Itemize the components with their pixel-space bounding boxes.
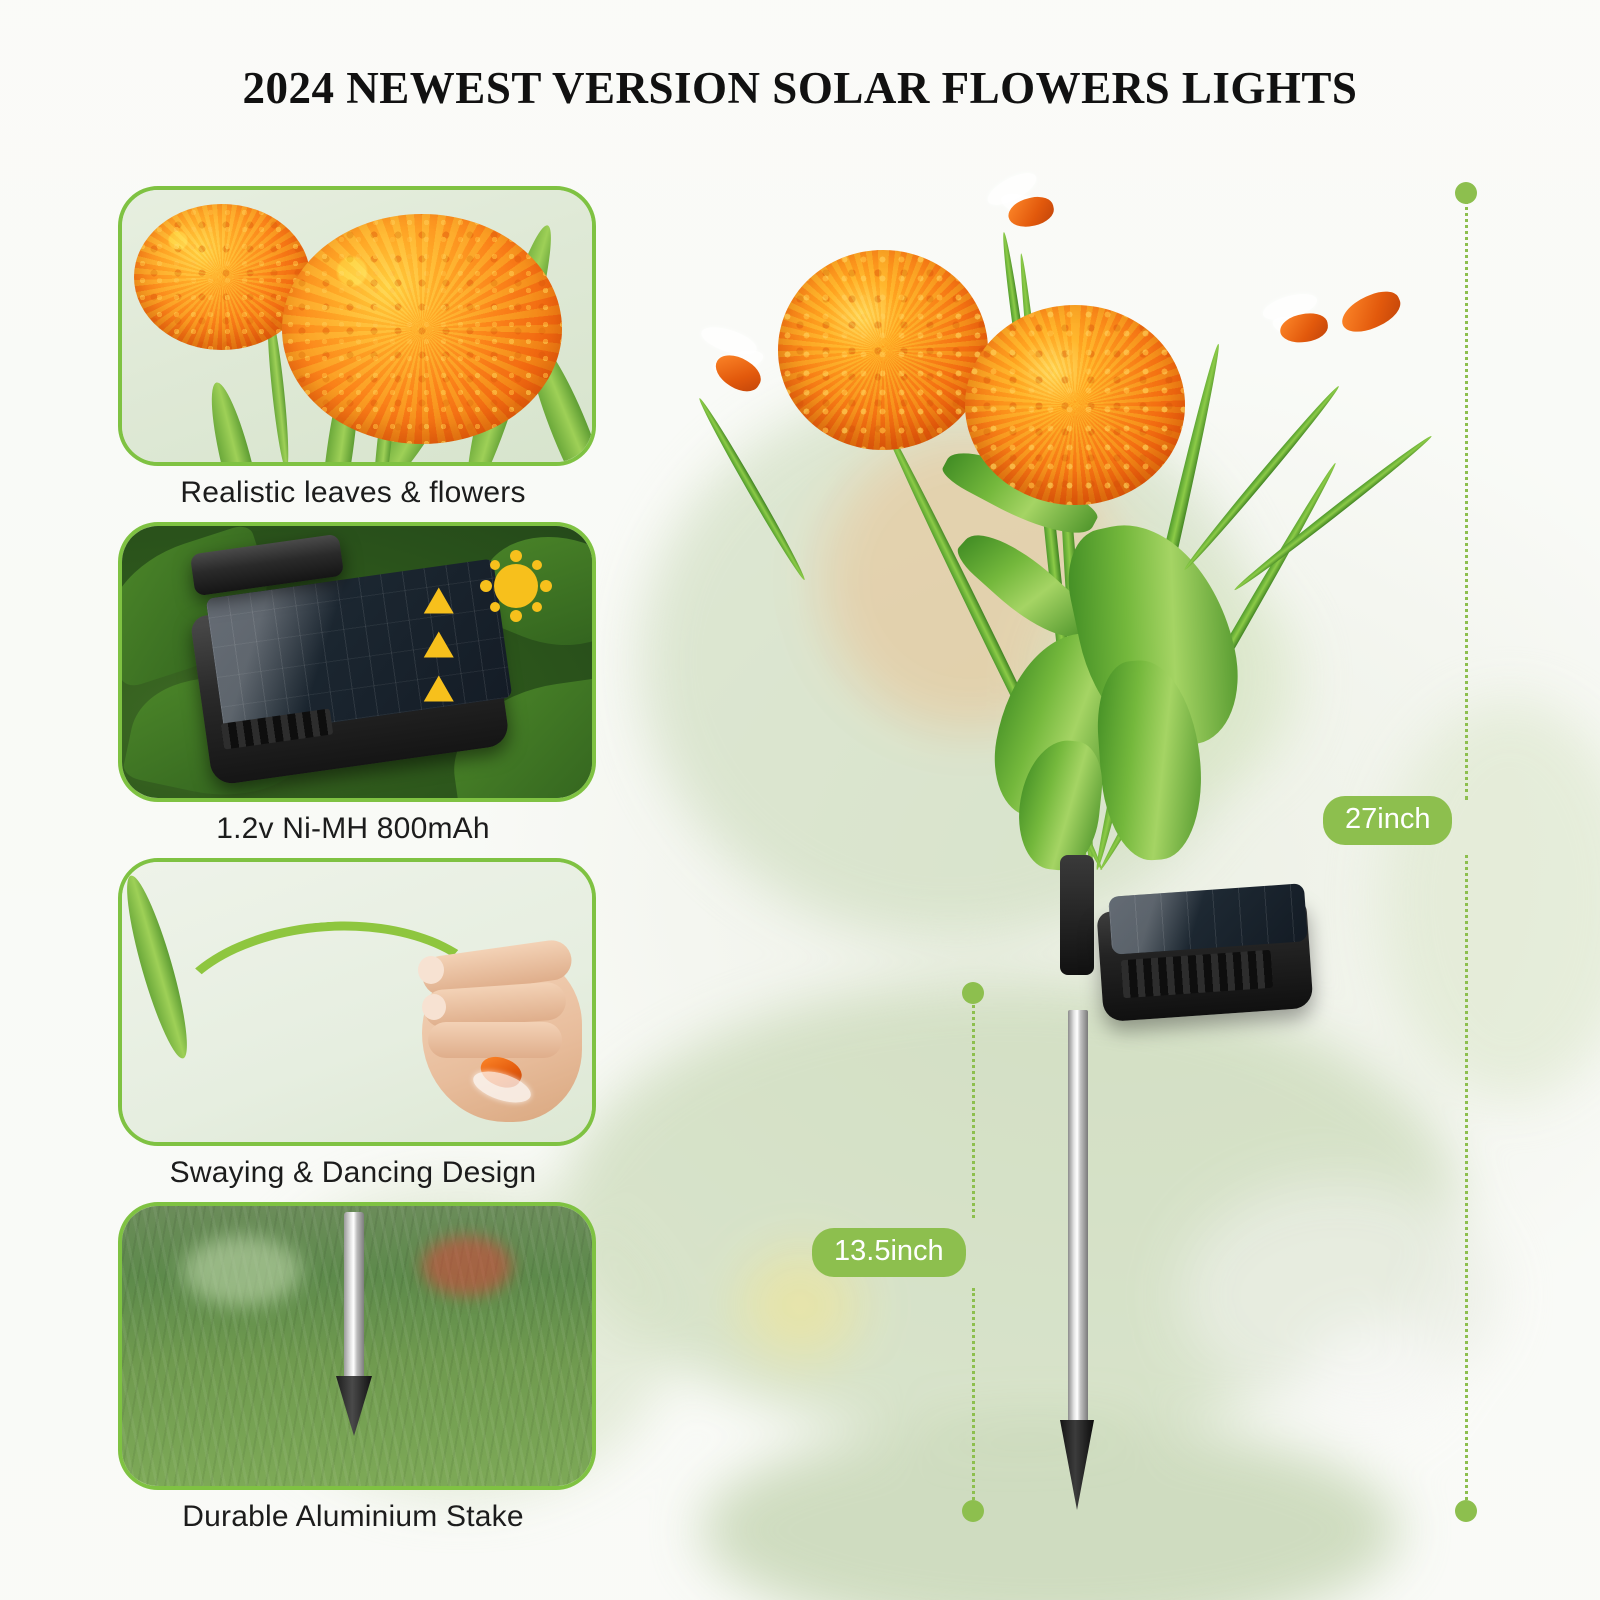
feature-image-solar-panel xyxy=(118,522,596,802)
feature-caption: Durable Aluminium Stake xyxy=(118,1490,588,1540)
feature-caption: Realistic leaves & flowers xyxy=(118,466,588,516)
feature-image-flowers xyxy=(118,186,596,466)
guide-line xyxy=(1465,200,1468,800)
guide-line xyxy=(1465,855,1468,1500)
guide-line xyxy=(972,1288,975,1500)
feature-list: Realistic leaves & flowers 1.2v Ni-MH 80… xyxy=(118,186,588,1546)
guide-dot xyxy=(1455,1500,1477,1522)
feature-image-stake xyxy=(118,1202,596,1490)
product-infographic: 2024 NEWEST VERSION SOLAR FLOWERS LIGHTS… xyxy=(0,0,1600,1600)
fingernail xyxy=(418,956,444,984)
guide-line xyxy=(972,1000,975,1218)
feature-item-aluminium-stake: Durable Aluminium Stake xyxy=(118,1202,588,1540)
feature-item-realistic-leaves-flowers: Realistic leaves & flowers xyxy=(118,186,588,516)
measurement-badge: 27inch xyxy=(1323,796,1452,845)
feature-item-swaying-dancing: Swaying & Dancing Design xyxy=(118,858,588,1196)
stake-rod xyxy=(344,1212,364,1382)
page-title: 2024 NEWEST VERSION SOLAR FLOWERS LIGHTS xyxy=(0,62,1600,114)
measurement-badge: 13.5inch xyxy=(812,1228,966,1277)
feature-image-swaying xyxy=(118,858,596,1146)
fingernail xyxy=(422,994,446,1020)
guide-dot xyxy=(962,1500,984,1522)
finger xyxy=(428,1022,562,1058)
feature-item-battery: 1.2v Ni-MH 800mAh xyxy=(118,522,588,852)
feature-caption: Swaying & Dancing Design xyxy=(118,1146,588,1196)
flower-head xyxy=(282,214,562,444)
sun-icon xyxy=(494,564,538,608)
feature-caption: 1.2v Ni-MH 800mAh xyxy=(118,802,588,852)
